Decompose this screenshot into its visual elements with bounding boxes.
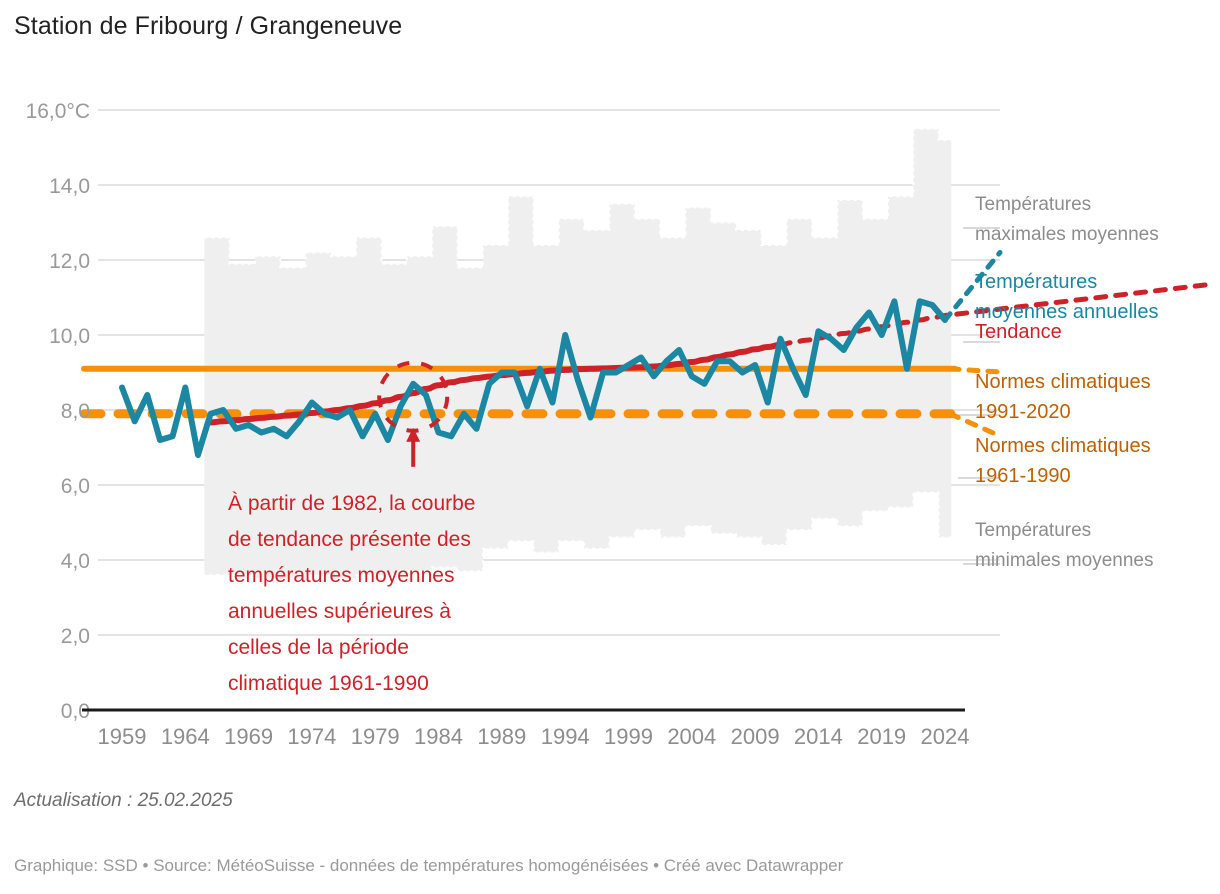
annotation-line: climatique 1961-1990 [228,672,429,695]
legend-label-norm-1961-1990: Normes climatiques [975,435,1151,457]
y-axis-tick: 6,0 [61,475,90,498]
legend-label-max: maximales moyennes [975,224,1159,245]
x-axis-tick: 2024 [921,724,970,749]
temperature-chart: 0,02,04,06,08,010,012,014,016,0°C 195919… [0,60,1220,760]
y-axis-tick: 10,0 [49,325,90,348]
chart-container: 0,02,04,06,08,010,012,014,016,0°C 195919… [0,60,1220,760]
x-axis-tick: 1999 [604,724,653,749]
y-axis-tick: 4,0 [61,550,90,573]
y-axis-labels: 0,02,04,06,08,010,012,014,016,0°C [26,100,90,723]
x-axis-tick: 1994 [541,724,590,749]
annotation-line: annuelles supérieures à [228,600,451,623]
legend-label-max: Températures [975,194,1091,215]
y-axis-tick: 12,0 [49,250,90,273]
annotation-line: celles de la période [228,636,409,659]
x-axis-tick: 1979 [351,724,400,749]
x-axis-tick: 1974 [287,724,336,749]
legend-label-min: Températures [975,520,1091,541]
legend-label-min: minimales moyennes [975,550,1153,571]
legend: Températuresmaximales moyennesTempératur… [950,194,1159,571]
x-axis-tick: 2004 [667,724,716,749]
y-axis-tick: 16,0°C [26,100,90,123]
legend-label-norm-1991-2020: 1991-2020 [975,401,1071,423]
legend-leader-orange-0 [950,369,1000,372]
legend-label-trend: Tendance [975,321,1062,343]
x-axis-tick: 1959 [98,724,147,749]
x-axis-tick: 1989 [477,724,526,749]
annotation-line: températures moyennes [228,564,454,587]
x-axis-tick: 2014 [794,724,843,749]
x-axis-tick: 1969 [224,724,273,749]
y-axis-tick: 8,0 [61,400,90,423]
y-axis-tick: 14,0 [49,175,90,198]
legend-label-norm-1961-1990: 1961-1990 [975,465,1071,487]
legend-label-norm-1991-2020: Normes climatiques [975,371,1151,393]
x-axis-tick: 2009 [731,724,780,749]
annotation-line: de tendance présente des [228,528,471,551]
y-axis-tick: 2,0 [61,625,90,648]
page-title: Station de Fribourg / Grangeneuve [14,12,402,41]
x-axis: 1959196419691974197919841989199419992004… [82,710,969,749]
x-axis-tick: 2019 [857,724,906,749]
credit-line: Graphique: SSD • Source: MétéoSuisse - d… [14,856,843,876]
x-axis-tick: 1984 [414,724,463,749]
annotation-line: À partir de 1982, la courbe [228,492,476,515]
legend-label-mean: moyennes annuelles [975,301,1158,323]
x-axis-tick: 1964 [161,724,210,749]
update-timestamp: Actualisation : 25.02.2025 [14,790,233,812]
legend-label-mean: Températures [975,271,1097,293]
